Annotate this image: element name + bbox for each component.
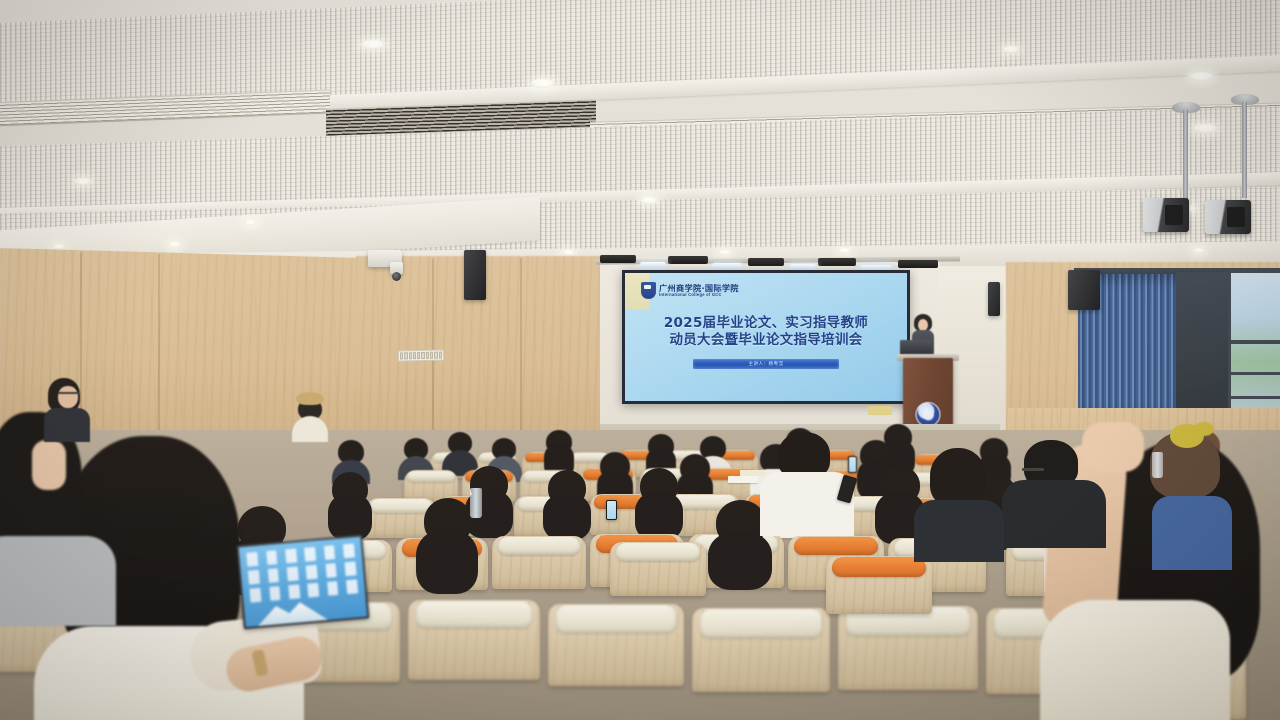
- seat[interactable]: [838, 606, 978, 690]
- slide-presenter-text: 主讲人：杨粤滢: [749, 361, 784, 367]
- white-shirt-body: [760, 472, 854, 536]
- camera-lens-icon: [392, 272, 401, 281]
- wall-seam: [158, 254, 160, 446]
- speaker-pole: [1183, 110, 1188, 202]
- ceiling-downlight: [1002, 46, 1020, 53]
- dark-shirt-body: [1002, 480, 1106, 548]
- seated-left-face: [58, 386, 78, 408]
- track-light-head: [898, 260, 938, 268]
- university-crest-icon: [641, 282, 656, 299]
- fg-right-hand: [1082, 422, 1144, 472]
- laptop[interactable]: [237, 535, 370, 630]
- smartphone[interactable]: [606, 500, 617, 520]
- hanging-speaker: [1143, 198, 1189, 232]
- window-mullion: [1228, 396, 1280, 399]
- seated-left-body: [44, 408, 90, 442]
- baseball-cap: [296, 392, 324, 405]
- slide-logo: 广州商学院·国际学院 International College of GCC: [641, 282, 739, 299]
- ceiling-downlight: [1188, 72, 1214, 81]
- paper-on-seat: [728, 476, 758, 483]
- ceiling-downlight: [562, 250, 575, 255]
- projection-screen: 广州商学院·国际学院 International College of GCC …: [622, 270, 910, 404]
- hanging-speaker: [1205, 200, 1251, 234]
- slide-title-line2: 动员大会暨毕业论文指导培训会: [625, 332, 907, 349]
- track-light-lamp: [712, 263, 742, 268]
- water-bottle: [470, 488, 482, 518]
- ceiling-downlight: [838, 248, 851, 253]
- slide-title-line1: 2025届毕业论文、实习指导教师: [625, 315, 907, 332]
- wall-panel-center-left: [356, 256, 628, 442]
- wall-speaker-left: [464, 250, 486, 300]
- ceiling-downlight: [360, 40, 386, 49]
- paper-on-seat: [740, 470, 766, 476]
- seat[interactable]: [548, 604, 684, 686]
- presentation-slide: 广州商学院·国际学院 International College of GCC …: [625, 273, 907, 401]
- ceiling-downlight: [530, 79, 556, 88]
- fg-right-shoulders: [1040, 600, 1230, 720]
- stage-ledge-item: [868, 406, 892, 415]
- wall-seam: [432, 258, 434, 438]
- seat[interactable]: [408, 600, 540, 680]
- hair-scrunchie: [1170, 424, 1204, 448]
- speaker-pole: [1242, 102, 1247, 198]
- track-light-head: [668, 256, 708, 264]
- slide-title: 2025届毕业论文、实习指导教师 动员大会暨毕业论文指导培训会: [625, 315, 907, 349]
- window-mullion: [1228, 372, 1280, 375]
- ceiling-downlight: [74, 178, 92, 185]
- window-blackout-panel: [1176, 272, 1234, 416]
- track-light-head: [600, 255, 636, 263]
- slide-institution-en: International College of GCC: [659, 293, 739, 298]
- wall-speaker-right-upper: [1068, 270, 1100, 310]
- braid-hair: [930, 448, 986, 506]
- light-switch-panel[interactable]: [398, 350, 444, 362]
- left-edge-hand: [32, 440, 66, 490]
- braid-body: [914, 500, 1004, 562]
- ceiling-downlight: [244, 220, 257, 225]
- track-light-head: [748, 258, 784, 266]
- slide-presenter-bar: 主讲人：杨粤滢: [693, 359, 839, 369]
- track-light-lamp: [640, 262, 666, 267]
- desktop-wallpaper-mountain: [256, 598, 328, 626]
- slide-institution-cn: 广州商学院·国际学院: [659, 284, 739, 292]
- window-mullion: [1228, 340, 1280, 344]
- seat[interactable]: [826, 556, 932, 614]
- ceiling-downlight: [718, 250, 731, 255]
- glasses-icon: [1022, 468, 1044, 471]
- seat[interactable]: [610, 542, 706, 596]
- water-bottle: [1152, 452, 1163, 478]
- glasses-icon: [58, 392, 80, 394]
- seat[interactable]: [492, 536, 586, 589]
- blue-shirt-body: [1152, 496, 1232, 570]
- lecture-hall-photo: 广州商学院·国际学院 International College of GCC …: [0, 0, 1280, 720]
- wall-speaker-right: [988, 282, 1000, 316]
- desktop-icon-grid: [247, 544, 358, 603]
- ceiling-downlight: [52, 244, 65, 249]
- track-light-lamp: [790, 264, 816, 269]
- seat[interactable]: [692, 608, 830, 692]
- wall-seam: [520, 258, 522, 438]
- left-edge-shoulders: [0, 536, 116, 626]
- ceiling-downlight: [168, 242, 181, 247]
- ceiling-downlight: [640, 197, 658, 204]
- ceiling-downlight: [1192, 124, 1218, 133]
- track-light-head: [818, 258, 856, 266]
- smartphone[interactable]: [848, 456, 857, 473]
- ceiling-downlight: [1192, 248, 1205, 253]
